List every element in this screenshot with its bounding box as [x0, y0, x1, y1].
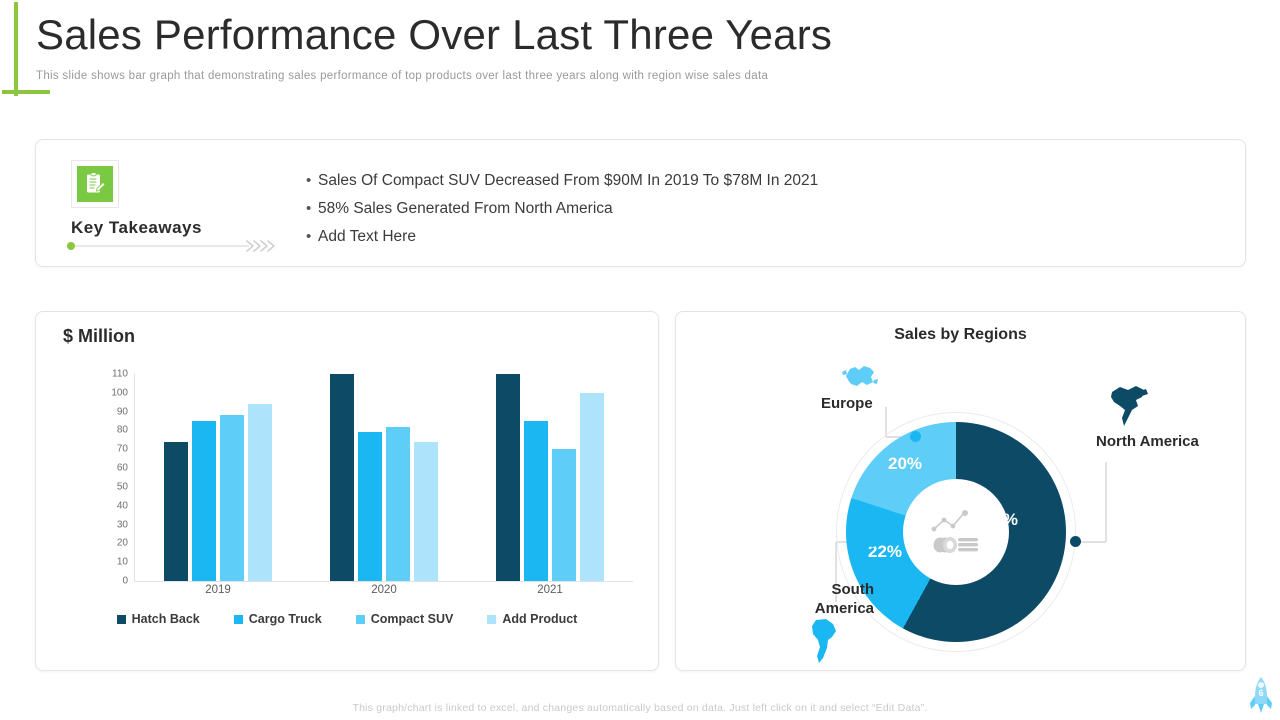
y-axis-tick: 50 [94, 481, 128, 492]
legend-swatch-icon [487, 615, 496, 624]
region-label-south-america-text: South America [815, 581, 874, 617]
list-item: • Sales Of Compact SUV Decreased From $9… [306, 170, 1206, 192]
bar-group-2019 [135, 374, 301, 581]
y-axis-tick: 70 [94, 444, 128, 455]
bar-hatch-back-2021[interactable] [496, 374, 520, 581]
bar-chart-legend: Hatch BackCargo TruckCompact SUVAdd Prod… [36, 612, 658, 626]
y-axis-tick: 0 [94, 576, 128, 587]
y-axis-tick: 80 [94, 425, 128, 436]
region-label-europe: Europe [821, 394, 873, 413]
key-takeaways-bullet-list: • Sales Of Compact SUV Decreased From $9… [306, 170, 1206, 254]
accent-vertical-line [14, 2, 18, 96]
footer-note: This graph/chart is linked to excel, and… [0, 702, 1280, 714]
callout-node-north-america [1070, 536, 1081, 547]
bar-compact-suv-2021[interactable] [552, 449, 576, 581]
bullet-marker: • [306, 170, 318, 192]
legend-label: Compact SUV [371, 612, 454, 626]
legend-item-add-product[interactable]: Add Product [487, 612, 577, 626]
clipboard-icon-box [71, 160, 119, 208]
legend-item-hatch-back[interactable]: Hatch Back [117, 612, 200, 626]
y-axis-tick: 40 [94, 500, 128, 511]
bar-chart-title: $ Million [63, 326, 135, 347]
list-item: • Add Text Here [306, 226, 1206, 248]
slice-value-europe: 20% [888, 454, 922, 474]
donut-center [906, 482, 1006, 582]
region-label-north-america: North America [1096, 432, 1226, 451]
list-item-text: Add Text Here [318, 226, 416, 248]
legend-swatch-icon [117, 615, 126, 624]
callout-node-europe [910, 431, 921, 442]
y-axis-tick: 90 [94, 406, 128, 417]
legend-item-compact-suv[interactable]: Compact SUV [356, 612, 454, 626]
legend-swatch-icon [234, 615, 243, 624]
legend-label: Cargo Truck [249, 612, 322, 626]
legend-label: Hatch Back [132, 612, 200, 626]
bar-chart-card: $ Million 1101009080706050403020100 2019… [35, 311, 659, 671]
x-axis-label-2021: 2021 [467, 584, 633, 596]
bar-hatch-back-2019[interactable] [164, 442, 188, 581]
region-label-north-america-text: North America [1096, 433, 1199, 450]
y-axis-tick: 10 [94, 557, 128, 568]
bar-add-product-2020[interactable] [414, 442, 438, 581]
y-axis-tick: 100 [94, 387, 128, 398]
bar-cargo-truck-2019[interactable] [192, 421, 216, 581]
bar-cargo-truck-2021[interactable] [524, 421, 548, 581]
legend-label: Add Product [502, 612, 577, 626]
x-axis-label-2019: 2019 [135, 584, 301, 596]
x-axis-line [134, 581, 633, 582]
arrow-divider-icon [64, 240, 279, 252]
y-axis-tick: 30 [94, 519, 128, 530]
legend-swatch-icon [356, 615, 365, 624]
y-axis-tick: 110 [94, 369, 128, 380]
x-axis-label-2020: 2020 [301, 584, 467, 596]
list-item: • 58% Sales Generated From North America [306, 198, 1206, 220]
north-america-map-icon [1108, 384, 1152, 430]
bar-compact-suv-2020[interactable] [386, 427, 410, 581]
y-axis-tick: 20 [94, 538, 128, 549]
y-axis-tick: 60 [94, 463, 128, 474]
list-item-text: Sales Of Compact SUV Decreased From $90M… [318, 170, 818, 192]
y-axis: 1101009080706050403020100 [98, 374, 132, 581]
slice-value-north-america: 58% [984, 510, 1018, 530]
bullet-marker: • [306, 226, 318, 248]
bar-groups [135, 374, 633, 581]
key-takeaways-card: Key Takeaways • Sales Of Compact SUV Dec… [35, 139, 1246, 267]
bullet-marker: • [306, 198, 318, 220]
bar-group-2020 [301, 374, 467, 581]
donut-chart-card: Sales by Regions [675, 311, 1246, 671]
callout-node-south-america [867, 536, 878, 547]
bar-add-product-2019[interactable] [248, 404, 272, 581]
accent-horizontal-line [2, 90, 50, 94]
page-subtitle: This slide shows bar graph that demonstr… [36, 68, 1036, 84]
page-number: 6 [1248, 688, 1274, 698]
bar-cargo-truck-2020[interactable] [358, 432, 382, 581]
clipboard-icon [77, 166, 113, 202]
list-item-text: 58% Sales Generated From North America [318, 198, 613, 220]
bar-compact-suv-2019[interactable] [220, 415, 244, 581]
bar-hatch-back-2020[interactable] [330, 374, 354, 581]
bar-group-2021 [467, 374, 633, 581]
bar-add-product-2021[interactable] [580, 393, 604, 581]
key-takeaways-title: Key Takeaways [71, 218, 202, 238]
growth-chart-coins-icon [928, 507, 984, 557]
south-america-map-icon [806, 618, 842, 664]
page-title: Sales Performance Over Last Three Years [36, 10, 1136, 60]
legend-item-cargo-truck[interactable]: Cargo Truck [234, 612, 322, 626]
europe-map-icon [840, 362, 880, 394]
x-axis-labels: 201920202021 [135, 584, 633, 596]
bar-chart-plot: 1101009080706050403020100 201920202021 [98, 374, 633, 581]
region-label-south-america: South America [774, 580, 874, 618]
